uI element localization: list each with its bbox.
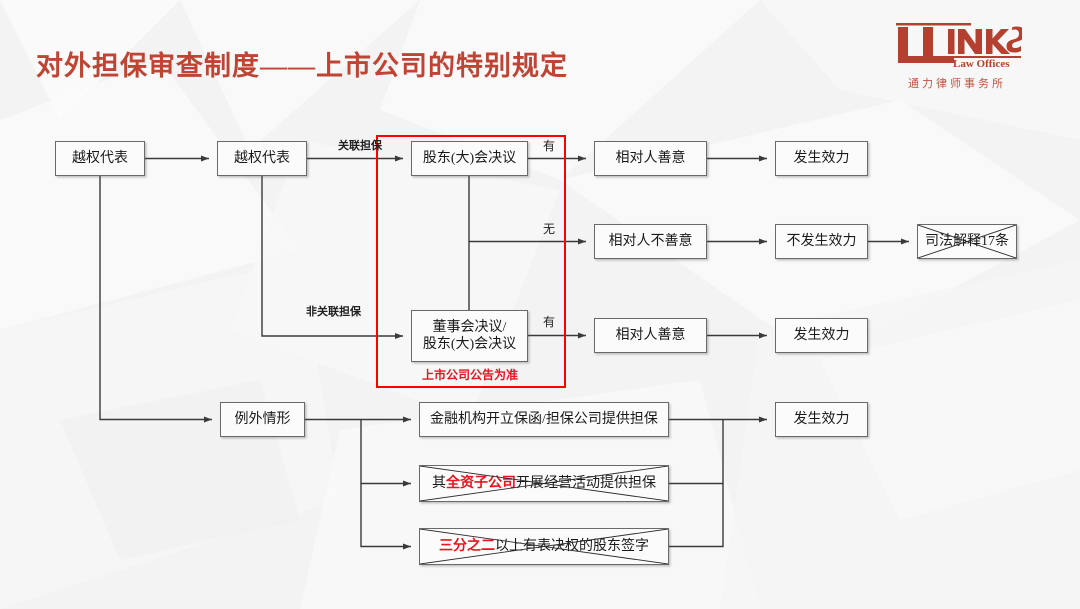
flow-node-label: 越权代表 bbox=[72, 150, 128, 168]
flow-node-label: 发生效力 bbox=[794, 150, 850, 168]
flow-node-label: 不发生效力 bbox=[787, 233, 857, 251]
flow-node-n16: 三分之二以上有表决权的股东签字 bbox=[419, 528, 669, 565]
flow-node-label: 其全资子公司开展经营活动提供担保 bbox=[432, 475, 656, 493]
flow-node-n11: 发生效力 bbox=[775, 318, 868, 353]
flow-node-n10: 相对人善意 bbox=[594, 318, 707, 353]
flow-node-n3: 股东(大)会决议 bbox=[411, 141, 528, 176]
flow-node-n4: 相对人善意 bbox=[594, 141, 707, 176]
flow-node-label: 例外情形 bbox=[235, 411, 291, 429]
flow-node-n9: 董事会决议/股东(大)会决议 bbox=[411, 310, 528, 362]
flow-node-n5: 发生效力 bbox=[775, 141, 868, 176]
flow-node-n14: 发生效力 bbox=[775, 402, 868, 437]
edge-label-l4: 非关联担保 bbox=[306, 303, 361, 319]
flow-node-label: 相对人善意 bbox=[616, 327, 686, 345]
flow-node-label: 董事会决议/股东(大)会决议 bbox=[423, 319, 516, 354]
flow-node-label: 股东(大)会决议 bbox=[423, 150, 516, 168]
flow-node-n7: 不发生效力 bbox=[775, 224, 868, 259]
flow-node-label: 三分之二以上有表决权的股东签字 bbox=[439, 538, 649, 556]
flow-node-label: 发生效力 bbox=[794, 327, 850, 345]
red-annotation-note: 上市公司公告为准 bbox=[405, 366, 535, 383]
flow-node-label: 相对人不善意 bbox=[609, 233, 693, 251]
flow-node-n15: 其全资子公司开展经营活动提供担保 bbox=[419, 465, 669, 502]
flow-node-label: 金融机构开立保函/担保公司提供担保 bbox=[430, 411, 658, 429]
flowchart-connectors bbox=[0, 0, 1080, 609]
flow-node-n2: 越权代表 bbox=[217, 141, 307, 176]
flow-node-label: 越权代表 bbox=[234, 150, 290, 168]
flow-node-n12: 例外情形 bbox=[220, 402, 305, 437]
edge-label-l3: 无 bbox=[543, 220, 555, 237]
flow-node-n1: 越权代表 bbox=[55, 141, 145, 176]
flow-node-n6: 相对人不善意 bbox=[594, 224, 707, 259]
edge-label-l5: 有 bbox=[543, 313, 555, 330]
flowchart: 越权代表越权代表股东(大)会决议相对人善意发生效力相对人不善意不发生效力司法解释… bbox=[0, 0, 1080, 609]
flow-node-label: 发生效力 bbox=[794, 411, 850, 429]
edge-label-l1: 关联担保 bbox=[338, 137, 382, 153]
slide-canvas: 对外担保审查制度——上市公司的特别规定 Law Offices 通力律师事务所 bbox=[0, 0, 1080, 609]
flow-node-label: 相对人善意 bbox=[616, 150, 686, 168]
edge-label-l2: 有 bbox=[543, 137, 555, 154]
flow-node-label: 司法解释17条 bbox=[925, 233, 1009, 251]
flow-node-n13: 金融机构开立保函/担保公司提供担保 bbox=[419, 402, 669, 437]
flow-node-n8: 司法解释17条 bbox=[917, 224, 1017, 259]
